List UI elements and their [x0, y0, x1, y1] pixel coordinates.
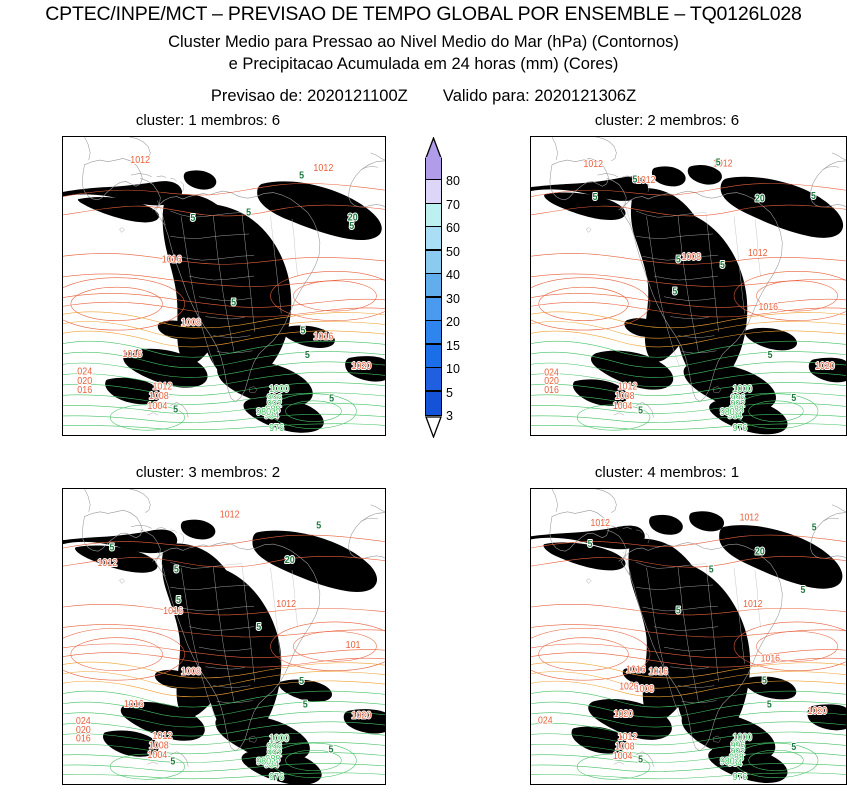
colorbar-label-5: 5: [446, 386, 453, 400]
svg-text:976: 976: [733, 772, 748, 783]
svg-text:5: 5: [305, 350, 310, 362]
svg-text:20: 20: [755, 546, 765, 557]
svg-text:5: 5: [672, 286, 677, 297]
svg-text:5: 5: [173, 404, 178, 416]
svg-text:1004: 1004: [147, 749, 167, 761]
colorbar-band-3: [426, 392, 441, 415]
svg-text:016: 016: [77, 384, 92, 396]
svg-text:1020: 1020: [351, 361, 371, 373]
colorbar-divider: [426, 249, 441, 250]
svg-text:1016: 1016: [124, 697, 144, 709]
svg-text:016: 016: [544, 384, 559, 395]
colorbar-band-20: [426, 298, 441, 321]
svg-text:980: 980: [256, 407, 271, 419]
colorbar-divider: [426, 320, 441, 321]
svg-text:5: 5: [709, 564, 714, 575]
svg-text:5: 5: [720, 260, 725, 271]
svg-text:1020: 1020: [815, 361, 834, 372]
svg-text:980: 980: [256, 755, 271, 767]
svg-text:5: 5: [256, 620, 261, 632]
svg-text:20: 20: [348, 212, 358, 224]
colorbar-label-10: 10: [446, 362, 460, 376]
colorbar-label-3: 3: [446, 409, 453, 423]
forecast-from-label: Previsao de: 2020121100Z: [211, 87, 408, 105]
colorbar-label-15: 15: [446, 339, 460, 353]
colorbar-band-40: [426, 251, 441, 274]
colorbar-body: [425, 158, 442, 416]
svg-text:5: 5: [110, 541, 115, 553]
svg-text:1016: 1016: [626, 664, 645, 675]
svg-text:20: 20: [285, 554, 295, 566]
svg-text:980: 980: [720, 756, 735, 767]
panel-title-cluster-4: cluster: 4 membros: 1: [487, 464, 847, 481]
svg-text:5: 5: [329, 393, 334, 405]
svg-text:1012: 1012: [743, 599, 762, 610]
svg-text:5: 5: [170, 755, 175, 767]
svg-text:1008: 1008: [615, 391, 634, 402]
svg-text:5: 5: [762, 675, 767, 686]
svg-text:1012: 1012: [584, 159, 603, 170]
colorbar-divider: [426, 296, 441, 297]
svg-text:1016: 1016: [649, 666, 668, 677]
svg-text:1016: 1016: [313, 331, 333, 343]
map-panel-cluster-3[interactable]: 10121012 1012101 10161016 10081020 02402…: [62, 488, 386, 785]
svg-text:5: 5: [716, 157, 721, 168]
colorbar-band-70: [426, 180, 441, 203]
svg-text:5: 5: [801, 584, 806, 595]
svg-text:5: 5: [328, 743, 333, 755]
svg-text:1012: 1012: [740, 512, 759, 523]
svg-text:1012: 1012: [97, 557, 117, 569]
svg-text:1008: 1008: [181, 665, 201, 677]
colorbar-divider: [426, 226, 441, 227]
svg-text:1020: 1020: [808, 706, 827, 717]
plot-area-cluster-2: 10121012 10121008 10121016 1020024 02001…: [531, 137, 846, 435]
svg-text:1008: 1008: [635, 684, 654, 695]
precipitation-colorbar[interactable]: 35101520304050607080: [425, 137, 442, 437]
colorbar-divider: [426, 179, 441, 180]
colorbar-band-80: [426, 157, 441, 180]
svg-text:1012: 1012: [618, 731, 637, 742]
plot-area-cluster-1: 10121012 10161016 10161020 1008024 02001…: [63, 137, 385, 435]
colorbar-divider: [426, 203, 441, 204]
svg-text:5: 5: [811, 190, 816, 201]
svg-text:5: 5: [299, 675, 304, 687]
svg-text:5: 5: [246, 207, 251, 219]
svg-text:5: 5: [638, 405, 643, 416]
colorbar-label-80: 80: [446, 174, 460, 188]
svg-text:5: 5: [301, 325, 306, 337]
svg-text:1016: 1016: [122, 349, 142, 361]
svg-text:1004: 1004: [613, 400, 632, 411]
svg-text:1008: 1008: [181, 317, 201, 329]
svg-text:1016: 1016: [759, 302, 778, 313]
svg-text:976: 976: [269, 771, 284, 783]
svg-text:101: 101: [346, 638, 361, 650]
svg-text:1012: 1012: [313, 163, 333, 175]
svg-text:5: 5: [791, 742, 796, 753]
svg-text:976: 976: [733, 423, 748, 434]
svg-text:1008: 1008: [682, 252, 701, 263]
colorbar-extend-high-arrow: [425, 137, 442, 159]
svg-text:1012: 1012: [130, 155, 150, 167]
svg-text:5: 5: [676, 605, 681, 616]
colorbar-band-30: [426, 274, 441, 297]
plot-area-cluster-4: 10121012 10121016 10161016 10201008 1020…: [531, 489, 846, 784]
svg-text:1016: 1016: [162, 254, 182, 266]
colorbar-divider: [426, 343, 441, 344]
colorbar-label-30: 30: [446, 292, 460, 306]
panel-title-cluster-2: cluster: 2 membros: 6: [487, 112, 847, 129]
svg-text:5: 5: [231, 297, 236, 309]
svg-text:016: 016: [76, 732, 91, 744]
colorbar-band-60: [426, 204, 441, 227]
svg-text:1012: 1012: [276, 598, 296, 610]
svg-text:5: 5: [768, 349, 773, 360]
svg-text:5: 5: [316, 519, 321, 531]
subtitle-line-1: Cluster Medio para Pressao ao Nivel Medi…: [0, 33, 847, 52]
svg-text:5: 5: [299, 170, 304, 182]
colorbar-band-15: [426, 321, 441, 344]
svg-text:1012: 1012: [636, 175, 655, 186]
colorbar-label-60: 60: [446, 221, 460, 235]
svg-text:1012: 1012: [591, 518, 610, 529]
svg-text:1004: 1004: [613, 750, 632, 761]
svg-text:1012: 1012: [220, 508, 240, 520]
svg-text:1008: 1008: [615, 741, 634, 752]
svg-text:5: 5: [303, 698, 308, 710]
svg-text:024: 024: [538, 715, 553, 726]
svg-text:5: 5: [588, 539, 593, 550]
panel-title-cluster-3: cluster: 3 membros: 2: [28, 464, 388, 481]
colorbar-band-5: [426, 368, 441, 391]
colorbar-band-50: [426, 227, 441, 250]
svg-text:1016: 1016: [761, 653, 780, 664]
colorbar-label-40: 40: [446, 268, 460, 282]
colorbar-band-10: [426, 345, 441, 368]
svg-text:1004: 1004: [147, 400, 167, 412]
colorbar-divider: [426, 367, 441, 368]
svg-text:1020: 1020: [614, 709, 633, 720]
colorbar-label-50: 50: [446, 245, 460, 259]
panel-title-cluster-1: cluster: 1 membros: 6: [28, 112, 388, 129]
svg-text:5: 5: [767, 699, 772, 710]
map-panel-cluster-4[interactable]: 10121012 10121016 10161016 10201008 1020…: [530, 488, 847, 785]
svg-text:5: 5: [176, 594, 181, 606]
svg-text:5: 5: [791, 392, 796, 403]
svg-text:5: 5: [676, 254, 681, 265]
colorbar-label-20: 20: [446, 315, 460, 329]
svg-text:5: 5: [633, 174, 638, 185]
svg-text:1012: 1012: [748, 248, 767, 259]
svg-text:1016: 1016: [163, 605, 183, 617]
svg-text:5: 5: [190, 213, 195, 225]
svg-text:5: 5: [638, 754, 643, 765]
forecast-period-line: Previsao de: 2020121100Z Valido para: 20…: [0, 87, 847, 106]
colorbar-extend-low-arrow: [425, 416, 442, 438]
map-panel-cluster-2[interactable]: 10121012 10121008 10121016 1020024 02001…: [530, 136, 847, 436]
svg-text:5: 5: [174, 563, 179, 575]
svg-text:20: 20: [755, 193, 765, 204]
subtitle-line-2: e Precipitacao Acumulada em 24 horas (mm…: [0, 55, 847, 74]
page-title: CPTEC/INPE/MCT – PREVISAO DE TEMPO GLOBA…: [0, 3, 847, 26]
valid-for-label: Valido para: 2020121306Z: [443, 87, 636, 105]
map-panel-cluster-1[interactable]: 10121012 10161016 10161020 1008024 02001…: [62, 136, 386, 436]
svg-text:980: 980: [720, 407, 735, 418]
svg-text:5: 5: [593, 191, 598, 202]
svg-text:976: 976: [269, 423, 284, 435]
svg-text:5: 5: [812, 522, 817, 533]
svg-text:1012: 1012: [618, 381, 637, 392]
plot-area-cluster-3: 10121012 1012101 10161016 10081020 02402…: [63, 489, 385, 784]
colorbar-divider: [426, 273, 441, 274]
colorbar-label-70: 70: [446, 198, 460, 212]
svg-text:1020: 1020: [351, 709, 371, 721]
colorbar-divider: [426, 390, 441, 391]
